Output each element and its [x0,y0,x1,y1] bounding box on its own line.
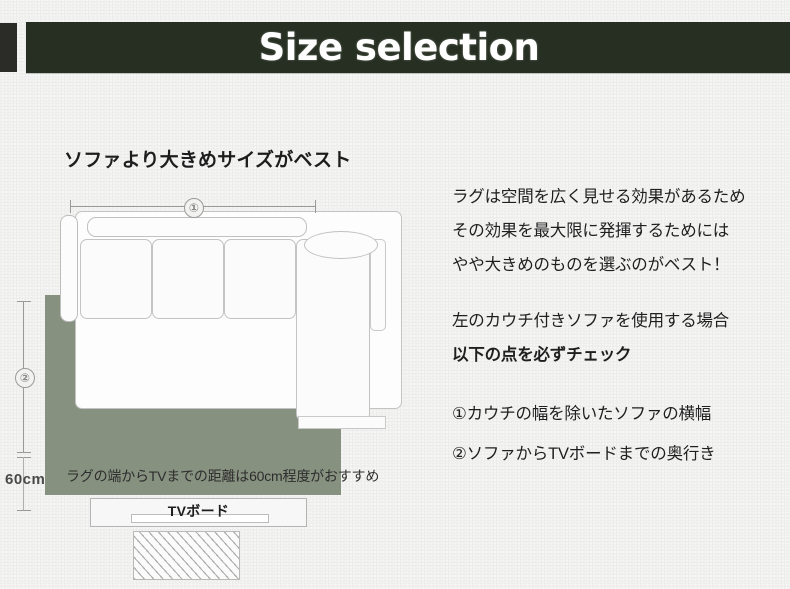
header-left-tab [0,23,17,72]
section-heading: ソファより大きめサイズがベスト [64,145,351,172]
coffee-table [133,531,240,580]
paragraph1-line-2: その効果を最大限に発揮するためには [452,214,782,248]
marker-2-icon: ② [15,368,35,388]
paragraph1-line-1: ラグは空間を広く見せる効果があるため [452,180,782,214]
paragraph1-line-3: やや大きめのものを選ぶのがベスト！ [452,248,782,282]
coffee-table-glass-hatch [134,532,239,579]
sofa-chaise-section [296,239,370,421]
tv-board: TVボード [90,498,307,527]
paragraph2-line-1: 左のカウチ付きソファを使用する場合 [452,304,782,338]
dimension-cap-right [315,200,316,213]
dimension-60cm-label: 60cm [5,471,45,488]
sofa-seat-cushion-3 [224,239,296,319]
sofa-left-armrest [60,215,78,322]
paragraph2-line-2: 以下の点を必ずチェック [452,338,782,372]
dimension-cap-bottom [17,510,31,511]
dimension-line-width: ① [70,199,316,215]
tv-board-label: TVボード [91,501,306,521]
page-title: Size selection [26,22,790,73]
header: Size selection [0,22,790,74]
sofa-backrest [87,217,307,237]
header-bar: Size selection [26,22,790,73]
dimension-cap-bottom [17,452,31,453]
sofa-seat-cushion-2 [152,239,224,319]
checklist-item-1: ①カウチの幅を除いたソファの横幅 [452,394,782,434]
diagram-caption: ラグの端からTVまでの距離は60cm程度がおすすめ [66,466,379,486]
dimension-cap-top [17,457,31,458]
dimension-cap-top [17,301,31,302]
description-column: ラグは空間を広く見せる効果があるため その効果を最大限に発揮するためには やや大… [452,180,782,474]
sofa-illustration [60,211,400,451]
marker-1-icon: ① [184,198,204,218]
sofa-seat-cushion-1 [80,239,152,319]
dimension-line-depth: ② [16,301,32,453]
sofa-chaise-cushion [304,231,378,259]
paragraph-spacer [452,282,782,304]
checklist-item-2: ②ソファからTVボードまでの奥行き [452,434,782,474]
sofa-chaise-foot [298,416,386,429]
checklist-spacer [452,372,782,394]
sofa-chaise-armrest [370,239,386,331]
